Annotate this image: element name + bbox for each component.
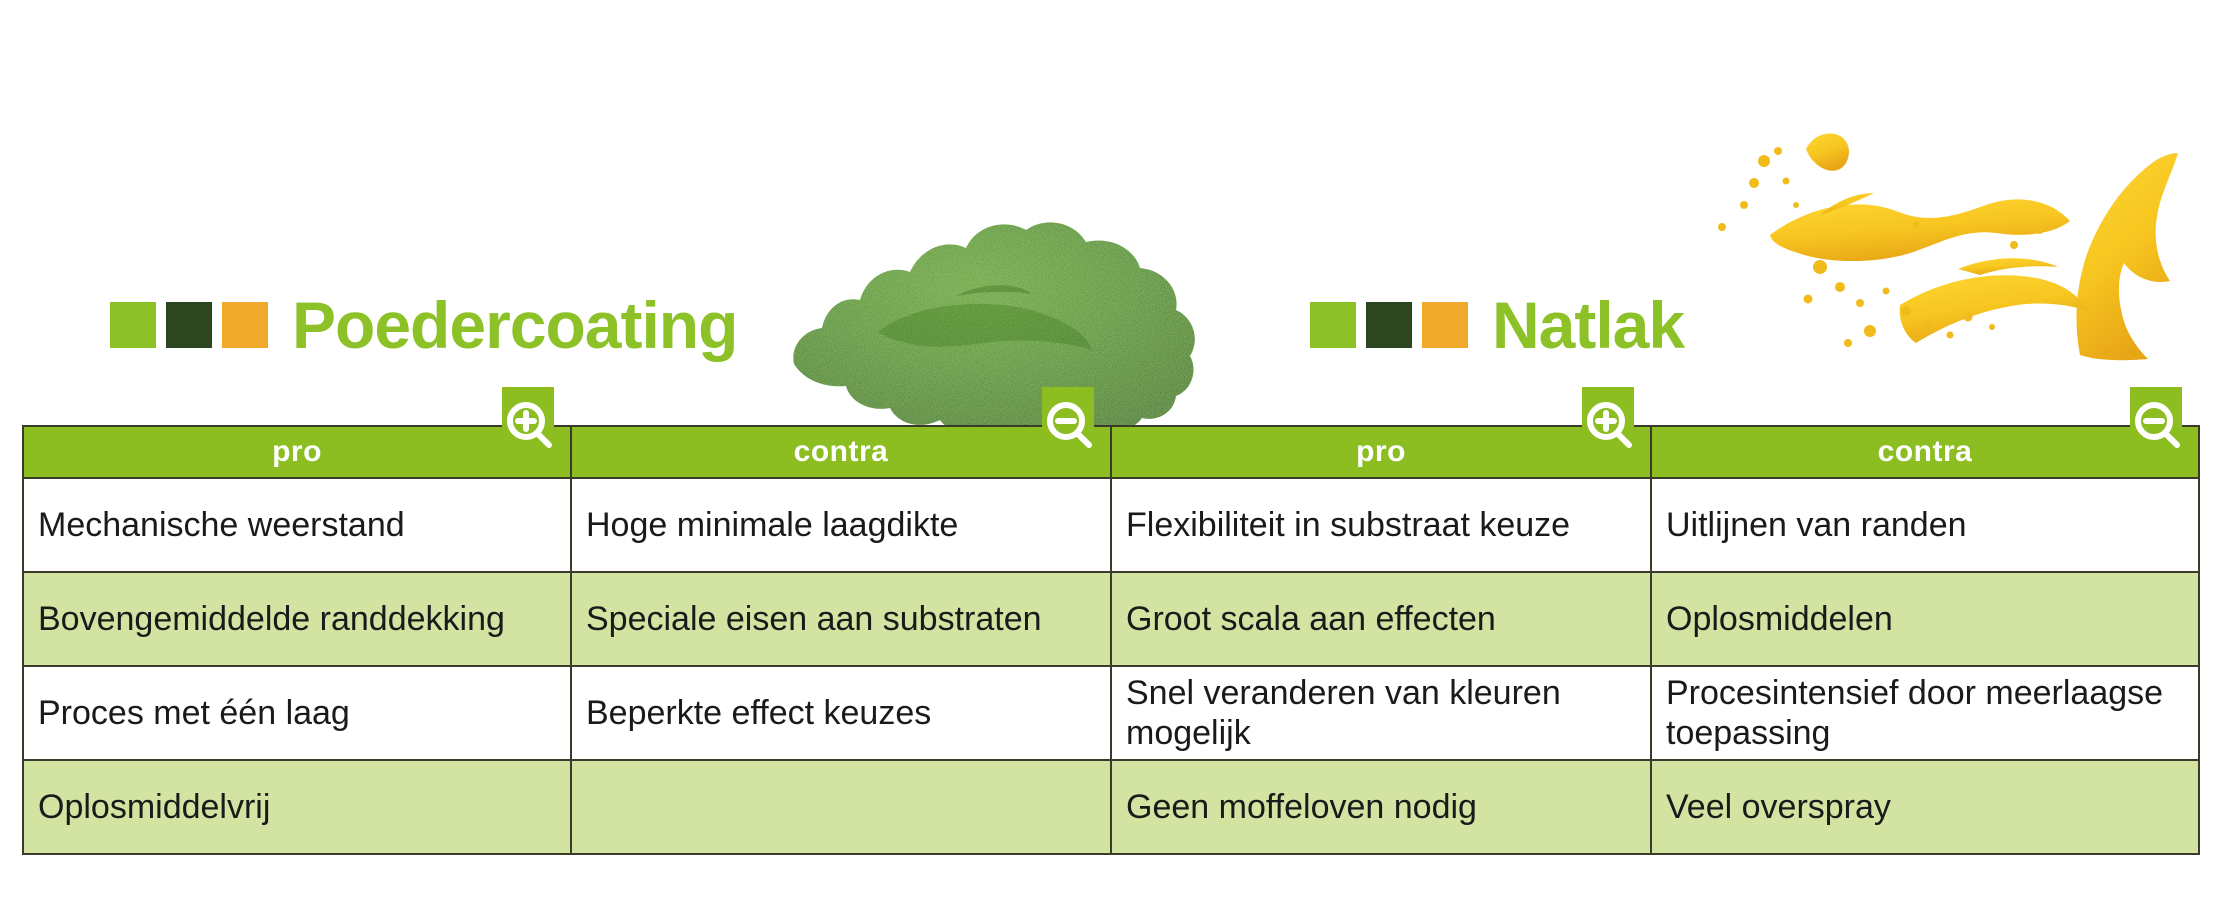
column-header-natlak-contra[interactable]: contra	[1651, 426, 2199, 478]
table-row: Bovengemiddelde randdekking Speciale eis…	[23, 572, 2199, 666]
table-cell	[571, 760, 1111, 854]
logo-square-light-green	[1310, 302, 1356, 348]
table-header-row: pro contra	[23, 426, 2199, 478]
heading-poedercoating-label: Poedercoating	[292, 292, 737, 358]
logo-square-orange	[1422, 302, 1468, 348]
table-cell: Uitlijnen van randen	[1651, 478, 2199, 572]
column-header-poedercoating-pro[interactable]: pro	[23, 426, 571, 478]
column-header-label: contra	[1878, 435, 1973, 468]
magnifier-plus-icon	[502, 387, 554, 477]
table-cell: Geen moffeloven nodig	[1111, 760, 1651, 854]
table-cell: Flexibiliteit in substraat keuze	[1111, 478, 1651, 572]
heading-natlak-label: Natlak	[1492, 292, 1684, 358]
table-row: Oplosmiddelvrij Geen moffeloven nodig Ve…	[23, 760, 2199, 854]
table-cell: Bovengemiddelde randdekking	[23, 572, 571, 666]
table-cell: Beperkte effect keuzes	[571, 666, 1111, 760]
magnifier-minus-icon	[2130, 387, 2182, 477]
table-cell: Speciale eisen aan substraten	[571, 572, 1111, 666]
table-cell: Oplosmiddelvrij	[23, 760, 571, 854]
table-cell: Proces met één laag	[23, 666, 571, 760]
yellow-paint-splash-image	[1700, 55, 2220, 365]
magnifier-plus-icon	[1582, 387, 1634, 477]
table-row: Proces met één laag Beperkte effect keuz…	[23, 666, 2199, 760]
table-cell: Hoge minimale laagdikte	[571, 478, 1111, 572]
column-header-poedercoating-contra[interactable]: contra	[571, 426, 1111, 478]
comparison-infographic: Poedercoating Natlak pro	[0, 0, 2220, 903]
magnifier-minus-icon	[1042, 387, 1094, 477]
table-row: Mechanische weerstand Hoge minimale laag…	[23, 478, 2199, 572]
pro-contra-comparison-table: pro contra	[22, 425, 2200, 855]
heading-natlak: Natlak	[1310, 292, 1684, 358]
logo-square-orange	[222, 302, 268, 348]
table-cell: Groot scala aan effecten	[1111, 572, 1651, 666]
logo-square-light-green	[110, 302, 156, 348]
green-powder-pile-image	[760, 150, 1220, 450]
table-cell: Procesintensief door meerlaagse toepassi…	[1651, 666, 2199, 760]
table-cell: Mechanische weerstand	[23, 478, 571, 572]
table-cell: Veel overspray	[1651, 760, 2199, 854]
column-header-natlak-pro[interactable]: pro	[1111, 426, 1651, 478]
heading-poedercoating: Poedercoating	[110, 292, 737, 358]
logo-square-dark-green	[166, 302, 212, 348]
column-header-label: pro	[272, 435, 322, 468]
logo-square-dark-green	[1366, 302, 1412, 348]
column-header-label: contra	[794, 435, 889, 468]
column-header-label: pro	[1356, 435, 1406, 468]
table-cell: Oplosmiddelen	[1651, 572, 2199, 666]
table-cell: Snel veranderen van kleuren mogelijk	[1111, 666, 1651, 760]
